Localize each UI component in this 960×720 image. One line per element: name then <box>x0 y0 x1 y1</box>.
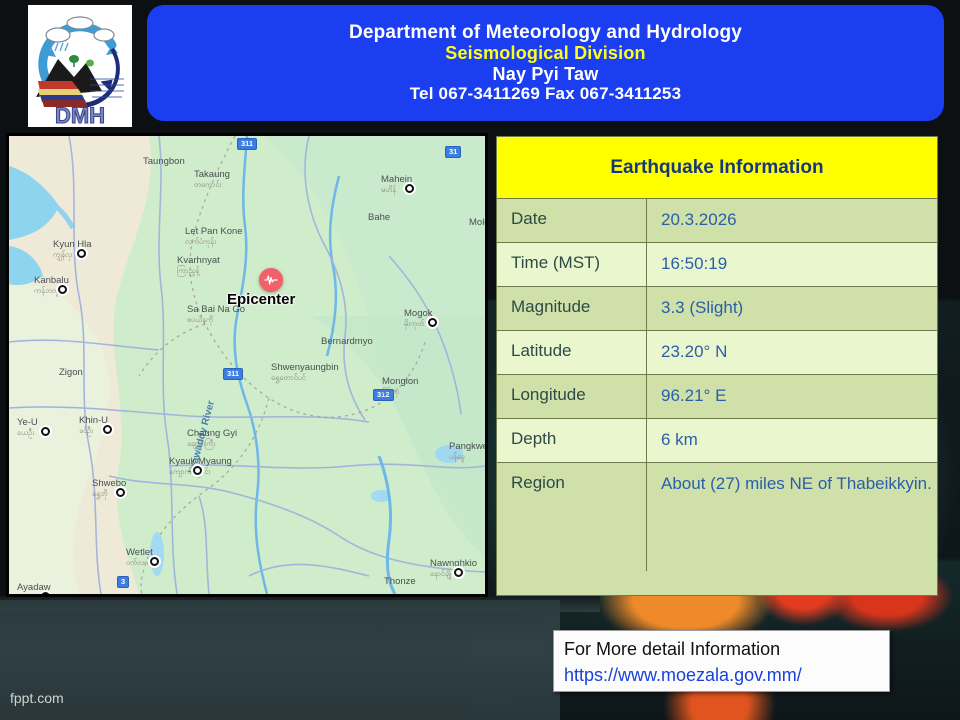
contact-details: Tel 067-3411269 Fax 067-3411253 <box>410 85 682 103</box>
epicenter-marker-icon[interactable] <box>259 268 283 292</box>
map-place-name: Monglon <box>382 376 418 387</box>
seismograph-icon <box>264 273 278 287</box>
background-lower-panel <box>0 600 560 720</box>
title-banner: Department of Meteorology and Hydrology … <box>148 6 943 120</box>
table-row: Magnitude3.3 (Slight) <box>497 287 937 331</box>
more-info-box[interactable]: For More detail Information https://www.… <box>553 630 890 692</box>
map-place-name: Ye-U <box>17 417 38 428</box>
map-place-name: Sa Bai Na Go <box>187 304 245 315</box>
map-place-label: Kvarhnyatကြာညွန့် <box>177 255 220 277</box>
watermark: fppt.com <box>10 690 64 706</box>
map-place-name: Bahe <box>368 212 390 223</box>
route-shield-311-mid: 311 <box>223 368 243 380</box>
dept-name: Department of Meteorology and Hydrology <box>349 23 742 44</box>
map-place-label: Taungbon <box>143 156 185 167</box>
map-place-name-burmese: ရွှေတောင်ပင် <box>271 373 339 384</box>
svg-text:DMH: DMH <box>55 103 105 127</box>
map-place-name-burmese: မိုင်းလုံ <box>382 387 418 398</box>
table-row-key: Date <box>497 199 647 242</box>
map-place-name: Molo <box>469 217 485 228</box>
table-row-key: Longitude <box>497 375 647 418</box>
map-place-label: Zigon <box>59 367 83 378</box>
map-city-dot-icon <box>148 555 161 568</box>
map-place-name: Zigon <box>59 367 83 378</box>
map-place-name: Kvarhnyat <box>177 255 220 266</box>
table-row: Depth 6 km <box>497 419 937 463</box>
map-place-label: Takaungတကောင်း <box>194 169 230 191</box>
table-row-key: Latitude <box>497 331 647 374</box>
epicenter-map[interactable]: Irrawaddy River Irrawaddy 311 31 311 312… <box>9 136 485 594</box>
map-place-name: Shwenyaungbin <box>271 362 339 373</box>
table-row-value: 23.20° N <box>647 331 937 374</box>
map-place-name-burmese: စပယ်နကို <box>187 315 245 326</box>
table-row-value: 3.3 (Slight) <box>647 287 937 330</box>
map-city-dot-icon <box>452 566 465 579</box>
map-place-label: Thonze <box>384 576 416 587</box>
map-place-label: Molo <box>469 217 485 228</box>
map-place-name: Thonze <box>384 576 416 587</box>
table-row: Time (MST)16:50:19 <box>497 243 937 287</box>
map-place-name: Takaung <box>194 169 230 180</box>
table-row-value: 6 km <box>647 419 937 462</box>
map-place-name-burmese: ပန်ခွေ <box>449 452 485 463</box>
map-place-label: Sa Bai Na Goစပယ်နကို <box>187 304 245 326</box>
map-place-name: Let Pan Kone <box>185 226 243 237</box>
table-body: Date20.3.2026Time (MST)16:50:19Magnitude… <box>497 199 937 571</box>
division-name: Seismological Division <box>445 44 645 63</box>
table-row: Longitude96.21° E <box>497 375 937 419</box>
map-place-label: Shwenyaungbinရွှေတောင်ပင် <box>271 362 339 384</box>
dmh-logo-icon: DMH <box>28 5 132 127</box>
map-city-dot-icon <box>56 283 69 296</box>
map-place-label: Let Pan Koneလက်ပံကုန်း <box>185 226 243 248</box>
map-place-label: Monglonမိုင်းလုံ <box>382 376 418 398</box>
more-info-link[interactable]: https://www.moezala.gov.mm/ <box>564 662 879 688</box>
table-row-value: 20.3.2026 <box>647 199 937 242</box>
map-city-dot-icon <box>101 423 114 436</box>
table-title: Earthquake Information <box>497 137 937 199</box>
map-place-label: Ye-Uယေဦး <box>17 417 38 439</box>
city-name: Nay Pyi Taw <box>493 65 599 84</box>
map-place-name: Bernardmyo <box>321 336 373 347</box>
map-place-name-burmese: ကြာညွန့် <box>177 266 220 277</box>
table-row-value: 16:50:19 <box>647 243 937 286</box>
table-row-key: Magnitude <box>497 287 647 330</box>
map-place-name: Pangkwe <box>449 441 485 452</box>
earthquake-info-table: Earthquake Information Date20.3.2026Time… <box>496 136 938 596</box>
route-shield-31: 31 <box>445 146 461 158</box>
table-row: Latitude23.20° N <box>497 331 937 375</box>
map-place-name: Taungbon <box>143 156 185 167</box>
map-city-dot-icon <box>75 247 88 260</box>
map-place-name-burmese: လက်ပံကုန်း <box>185 237 243 248</box>
table-row: Date20.3.2026 <box>497 199 937 243</box>
map-place-name-burmese: ချောင်းကြီး <box>187 439 237 450</box>
map-place-name: Chaung Gyi <box>187 428 237 439</box>
table-row-value: About (27) miles NE of Thabeikkyin. <box>647 463 937 571</box>
map-base-layer <box>9 136 485 594</box>
table-row-key: Depth <box>497 419 647 462</box>
map-city-dot-icon <box>191 464 204 477</box>
table-row-key: Time (MST) <box>497 243 647 286</box>
map-place-label: Bernardmyo <box>321 336 373 347</box>
table-row-value: 96.21° E <box>647 375 937 418</box>
table-row-key: Region <box>497 463 647 571</box>
map-city-dot-icon <box>39 425 52 438</box>
map-place-label: Chaung Gyiချောင်းကြီး <box>187 428 237 450</box>
map-city-dot-icon <box>114 486 127 499</box>
map-place-name-burmese: တကောင်း <box>194 180 230 191</box>
map-frame: Irrawaddy River Irrawaddy 311 31 311 312… <box>6 133 488 597</box>
route-shield-311-top: 311 <box>237 138 257 150</box>
map-place-label: Bahe <box>368 212 390 223</box>
slide-canvas: DMH Department of Meteorology and Hydrol… <box>0 0 960 720</box>
map-city-dot-icon <box>426 316 439 329</box>
map-place-name-burmese: ယေဦး <box>17 428 38 439</box>
map-place-label: Pangkweပန်ခွေ <box>449 441 485 463</box>
dmh-logo: DMH <box>28 5 132 127</box>
route-shield-bottom: 3 <box>117 576 129 588</box>
more-info-label: For More detail Information <box>564 636 879 662</box>
map-city-dot-icon <box>403 182 416 195</box>
table-row: RegionAbout (27) miles NE of Thabeikkyin… <box>497 463 937 571</box>
